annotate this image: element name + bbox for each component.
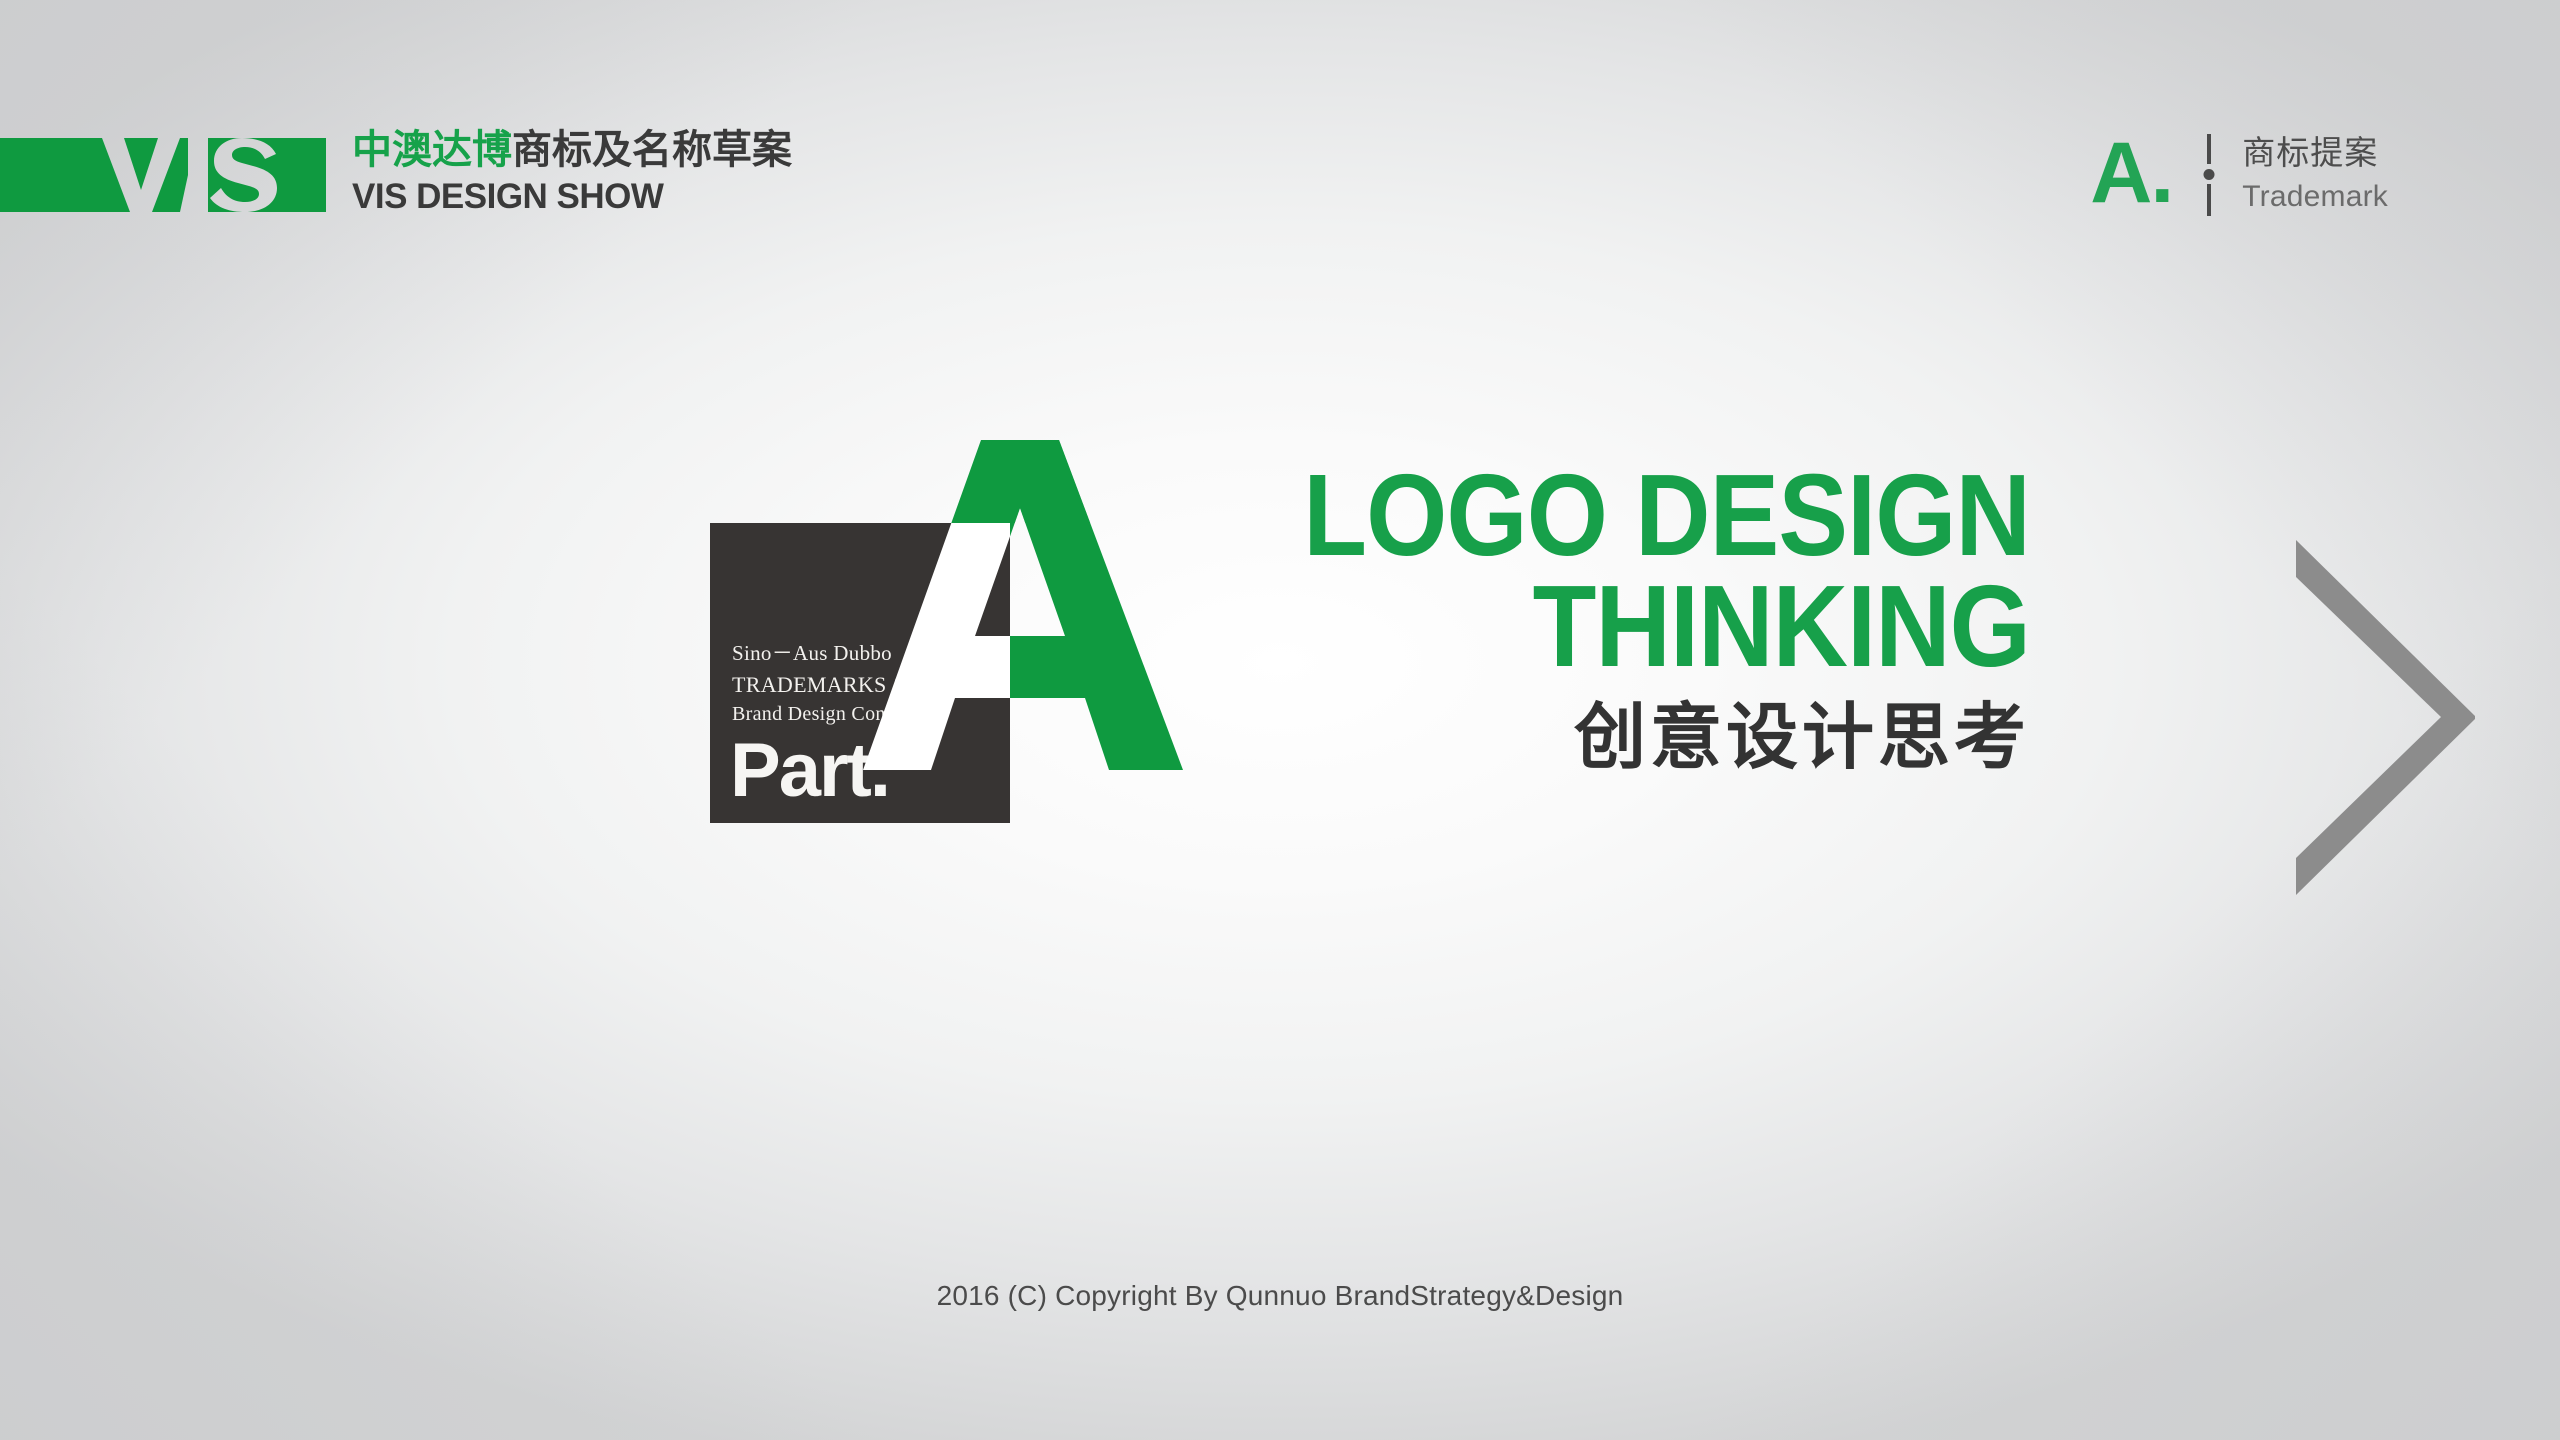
- divider-dot: [2204, 169, 2215, 180]
- next-slide-chevron-icon[interactable]: [2290, 540, 2475, 895]
- divider-segment-top: [2207, 134, 2211, 164]
- brand-chinese-green: 中澳达博: [352, 127, 512, 173]
- headline-block: LOGO DESIGN THINKING 创意设计思考: [1170, 460, 2030, 773]
- brand-english-title: VIS DESIGN SHOW: [352, 179, 792, 214]
- vis-logo-mark: [0, 138, 326, 212]
- headline-line-2: THINKING: [1256, 571, 2030, 682]
- trademark-letter-a: A.: [2090, 136, 2172, 212]
- center-composition: Sino－Aus Dubbo TRADEMARKS & LOGO Brand D…: [710, 440, 2030, 850]
- headline-subtitle-chinese: 创意设计思考: [1170, 701, 2030, 773]
- divider-segment-bottom: [2207, 184, 2211, 216]
- trademark-label-chinese: 商标提案: [2242, 136, 2388, 169]
- trademark-label-english: Trademark: [2242, 182, 2388, 212]
- trademark-labels: 商标提案 Trademark: [2242, 136, 2388, 212]
- brand-chinese-title: 中澳达博商标及名称草案: [352, 130, 792, 170]
- dotted-divider-icon: [2194, 128, 2224, 220]
- footer-copyright: 2016 (C) Copyright By Qunnuo BrandStrate…: [0, 1280, 2560, 1312]
- slide-canvas: 中澳达博商标及名称草案 VIS DESIGN SHOW A. 商标提案 Trad…: [0, 0, 2560, 1440]
- big-letter-a-icon: [863, 440, 1203, 770]
- brand-chinese-dark: 商标及名称草案: [512, 127, 792, 173]
- trademark-badge: A. 商标提案 Trademark: [2090, 128, 2388, 220]
- brand-text-block: 中澳达博商标及名称草案 VIS DESIGN SHOW: [352, 130, 792, 214]
- headline-line-1: LOGO DESIGN: [1256, 460, 2030, 571]
